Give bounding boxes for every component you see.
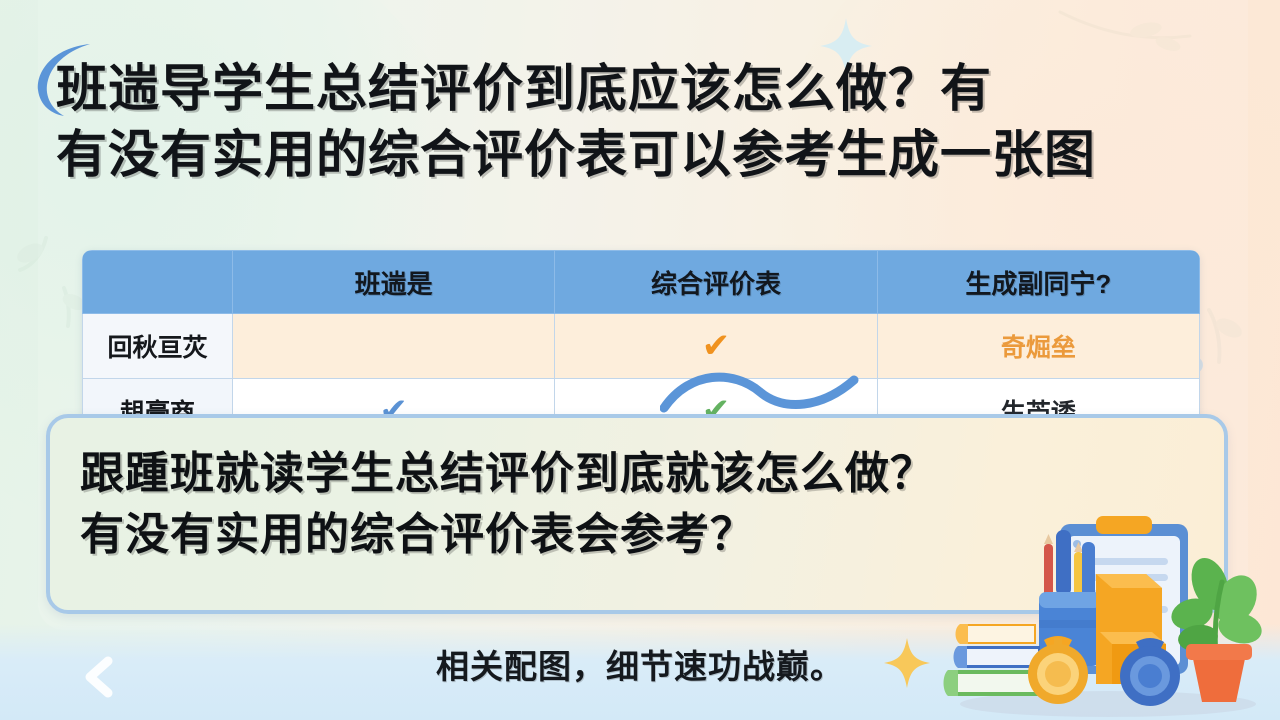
- table-header-corner: [83, 251, 233, 314]
- page-title: 班遄导学生总结评价到底应该怎么做？有 有没有实用的综合评价表可以参考生成一张图: [56, 56, 1236, 189]
- table-header-cell: 班遄是: [233, 251, 555, 314]
- stationery-illustration: [940, 508, 1270, 720]
- table-row-label: 回秋亘苂: [83, 314, 233, 379]
- check-icon: ✔: [702, 327, 731, 365]
- chevron-left-icon[interactable]: [82, 655, 116, 699]
- sprout-watermark-icon: [8, 226, 78, 286]
- bottom-caption: 相关配图，细节速功战巅。: [0, 640, 1280, 688]
- table-header-cell: 综合评价表: [555, 251, 877, 314]
- table-cell: [233, 314, 555, 379]
- table-cell: 奇煀垒: [877, 314, 1199, 379]
- poster-canvas: 班遄导学生总结评价到底应该怎么做？有 有没有实用的综合评价表可以参考生成一张图 …: [0, 0, 1280, 720]
- table-row: 回秋亘苂 ✔ 奇煀垒: [83, 314, 1200, 379]
- table-header-row: 班遄是 综合评价表 生成副同宁?: [83, 251, 1200, 314]
- table-cell-text: 奇煀垒: [1001, 334, 1076, 362]
- table-header-cell: 生成副同宁?: [877, 251, 1199, 314]
- wave-squiggle-icon: [660, 368, 860, 414]
